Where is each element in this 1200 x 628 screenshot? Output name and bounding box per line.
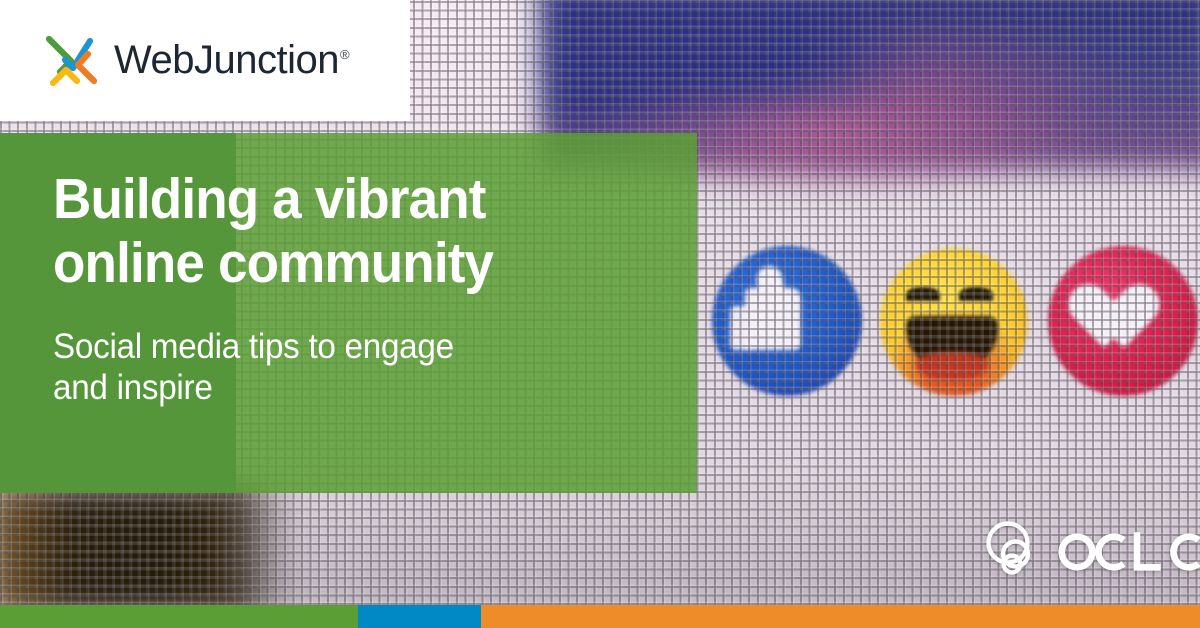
webjunction-logo-plate: WebJunction® [0, 0, 410, 121]
banner-text-block: Building a vibrant online community Soci… [53, 167, 673, 408]
social-share-card: WebJunction® Building a vibrant online c… [0, 0, 1200, 628]
webjunction-x-logo-icon [44, 33, 100, 89]
registered-trademark-icon: ® [340, 47, 349, 62]
oclc-three-circles-logo-icon [984, 519, 1046, 581]
webjunction-wordmark: WebJunction® [114, 38, 349, 83]
bottom-color-bar [0, 605, 1200, 628]
page-subtitle: Social media tips to engage and inspire [53, 326, 642, 409]
webjunction-wordmark-text: WebJunction [114, 38, 339, 82]
page-title: Building a vibrant online community [53, 167, 630, 296]
oclc-logo: ® [984, 519, 1200, 581]
bottom-bar-orange-segment [481, 605, 1200, 628]
bottom-bar-blue-segment [358, 605, 481, 628]
headline-banner: Building a vibrant online community Soci… [0, 133, 697, 493]
bottom-bar-green-segment [0, 605, 358, 628]
oclc-wordmark: ® [1057, 528, 1200, 572]
oclc-wordmark-glyphs: ® [1057, 528, 1200, 572]
